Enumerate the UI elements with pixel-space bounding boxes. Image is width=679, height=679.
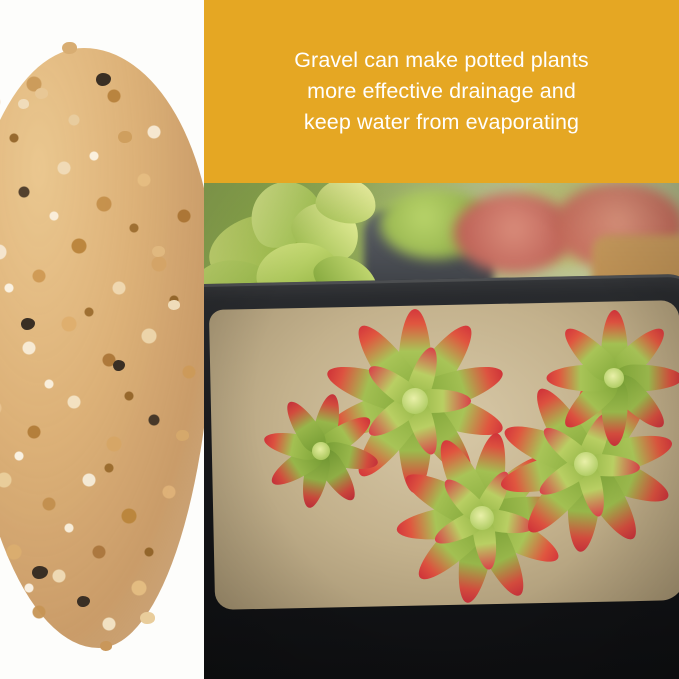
stray-pebble [35,88,48,99]
stray-pebble [168,300,180,310]
gravel-pile [0,48,204,648]
caption-text: Gravel can make potted plants more effec… [280,45,603,138]
stray-pebble [176,430,189,441]
product-infographic-image: Gravel can make potted plants more effec… [0,0,679,679]
caption-banner: Gravel can make potted plants more effec… [204,0,679,183]
echeveria-rosette [534,303,679,453]
stray-pebble [152,246,165,257]
stray-pebble [62,42,77,54]
rosette-center [604,368,624,388]
stray-pebble [18,99,29,109]
caption-line-1: Gravel can make potted plants [294,45,589,76]
caption-line-2: more effective drainage and [294,76,589,107]
echeveria-rosette [256,389,386,513]
stray-pebble [100,641,112,651]
gravel-texture-layer-2 [0,48,204,648]
stray-pebble [140,612,155,624]
gravel-photo-panel [0,0,204,679]
succulent-photo [204,183,679,679]
rosette-center [402,388,428,414]
caption-line-3: keep water from evaporating [294,107,589,138]
rosette-center [312,442,330,460]
stray-pebble [118,131,132,143]
rosette-center [574,452,598,476]
